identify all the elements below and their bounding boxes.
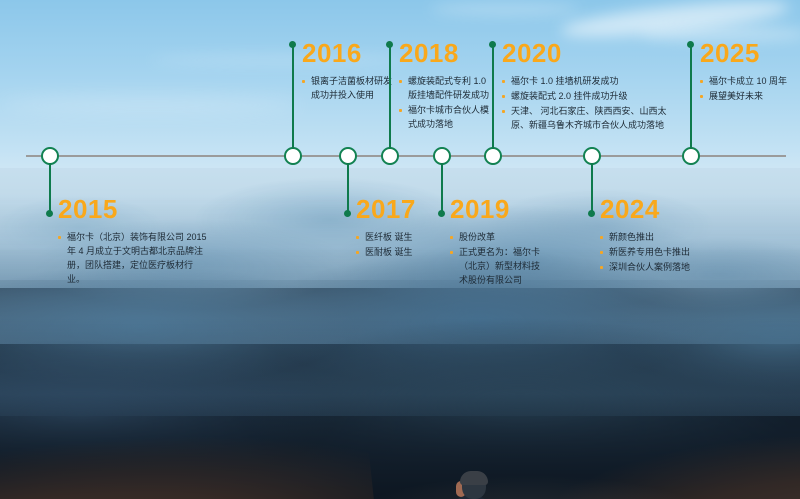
- timeline-stem-2018: [389, 44, 391, 149]
- timeline-entry-2016: 2016 银离子洁菌板材研发成功并投入使用: [302, 40, 392, 104]
- timeline-node-2020[interactable]: [484, 147, 502, 165]
- list-item: 银离子洁菌板材研发成功并投入使用: [302, 75, 394, 103]
- list-item: 股份改革: [450, 231, 542, 245]
- items-2016: 银离子洁菌板材研发成功并投入使用: [302, 75, 394, 103]
- timeline-stem-2016: [292, 44, 294, 149]
- list-item: 天津、 河北石家庄、陕西西安、山西太原、新疆乌鲁木齐城市合伙人成功落地: [502, 105, 682, 133]
- list-item: 医纤板 诞生: [356, 231, 444, 245]
- list-item: 深圳合伙人案例落地: [600, 261, 712, 275]
- timeline-stem-2015: [49, 163, 51, 213]
- timeline-entry-2015: 2015 福尔卡（北京）装饰有限公司 2015 年 4 月成立于文明古都北京品牌…: [58, 196, 210, 288]
- year-label-2016: 2016: [302, 40, 392, 66]
- items-2024: 新颜色推出 新医养专用色卡推出 深圳合伙人案例落地: [600, 231, 712, 275]
- list-item: 展望美好未来: [700, 90, 796, 104]
- cloud-icon: [430, 2, 580, 16]
- timeline-stem-2019: [441, 163, 443, 213]
- items-2019: 股份改革 正式更名为：福尔卡（北京）新型材料技术股份有限公司: [450, 231, 542, 288]
- timeline-stem-2017: [347, 163, 349, 213]
- items-2020: 福尔卡 1.0 挂墙机研发成功 螺旋装配式 2.0 挂件成功升级 天津、 河北石…: [502, 75, 682, 133]
- timeline-dot-2015: [46, 210, 53, 217]
- timeline-dot-2018: [386, 41, 393, 48]
- year-label-2015: 2015: [58, 196, 210, 222]
- timeline-node-2025[interactable]: [682, 147, 700, 165]
- list-item: 新医养专用色卡推出: [600, 246, 712, 260]
- year-label-2025: 2025: [700, 40, 796, 66]
- timeline-stem-2025: [690, 44, 692, 149]
- timeline-stem-2024: [591, 163, 593, 213]
- timeline-entry-2019: 2019 股份改革 正式更名为：福尔卡（北京）新型材料技术股份有限公司: [450, 196, 542, 289]
- list-item: 螺旋装配式 2.0 挂件成功升级: [502, 90, 682, 104]
- items-2018: 螺旋装配式专利 1.0 版挂墙配件研发成功 福尔卡城市合伙人模式成功落地: [399, 75, 491, 132]
- list-item: 正式更名为：福尔卡（北京）新型材料技术股份有限公司: [450, 246, 542, 288]
- timeline-dot-2017: [344, 210, 351, 217]
- year-label-2017: 2017: [356, 196, 444, 222]
- timeline-dot-2019: [438, 210, 445, 217]
- year-label-2020: 2020: [502, 40, 682, 66]
- timeline-dot-2024: [588, 210, 595, 217]
- timeline-entry-2020: 2020 福尔卡 1.0 挂墙机研发成功 螺旋装配式 2.0 挂件成功升级 天津…: [502, 40, 682, 134]
- cloud-icon: [0, 96, 300, 114]
- timeline-dot-2020: [489, 41, 496, 48]
- year-label-2019: 2019: [450, 196, 542, 222]
- timeline-dot-2025: [687, 41, 694, 48]
- timeline-entry-2017: 2017 医纤板 诞生 医耐板 诞生: [356, 196, 444, 261]
- timeline-entry-2025: 2025 福尔卡成立 10 周年 展望美好未来: [700, 40, 796, 105]
- items-2025: 福尔卡成立 10 周年 展望美好未来: [700, 75, 796, 104]
- list-item: 福尔卡 1.0 挂墙机研发成功: [502, 75, 682, 89]
- list-item: 新颜色推出: [600, 231, 712, 245]
- list-item: 螺旋装配式专利 1.0 版挂墙配件研发成功: [399, 75, 491, 103]
- timeline-entry-2024: 2024 新颜色推出 新医养专用色卡推出 深圳合伙人案例落地: [600, 196, 710, 276]
- items-2015: 福尔卡（北京）装饰有限公司 2015 年 4 月成立于文明古都北京品牌注册，团队…: [58, 231, 210, 287]
- list-item: 福尔卡（北京）装饰有限公司 2015 年 4 月成立于文明古都北京品牌注册，团队…: [58, 231, 210, 287]
- timeline-stem-2020: [492, 44, 494, 149]
- timeline-node-2018[interactable]: [381, 147, 399, 165]
- hiker-cap: [460, 471, 488, 485]
- timeline-entry-2018: 2018 螺旋装配式专利 1.0 版挂墙配件研发成功 福尔卡城市合伙人模式成功落…: [399, 40, 491, 133]
- timeline-infographic: 2016 银离子洁菌板材研发成功并投入使用 2018 螺旋装配式专利 1.0 版…: [0, 0, 800, 499]
- year-label-2024: 2024: [600, 196, 710, 222]
- items-2017: 医纤板 诞生 医耐板 诞生: [356, 231, 444, 260]
- year-label-2018: 2018: [399, 40, 491, 66]
- timeline-axis: [26, 155, 786, 157]
- list-item: 医耐板 诞生: [356, 246, 444, 260]
- hiker-figure: [432, 473, 552, 499]
- list-item: 福尔卡城市合伙人模式成功落地: [399, 104, 491, 132]
- timeline-dot-2016: [289, 41, 296, 48]
- list-item: 福尔卡成立 10 周年: [700, 75, 796, 89]
- timeline-node-2016[interactable]: [284, 147, 302, 165]
